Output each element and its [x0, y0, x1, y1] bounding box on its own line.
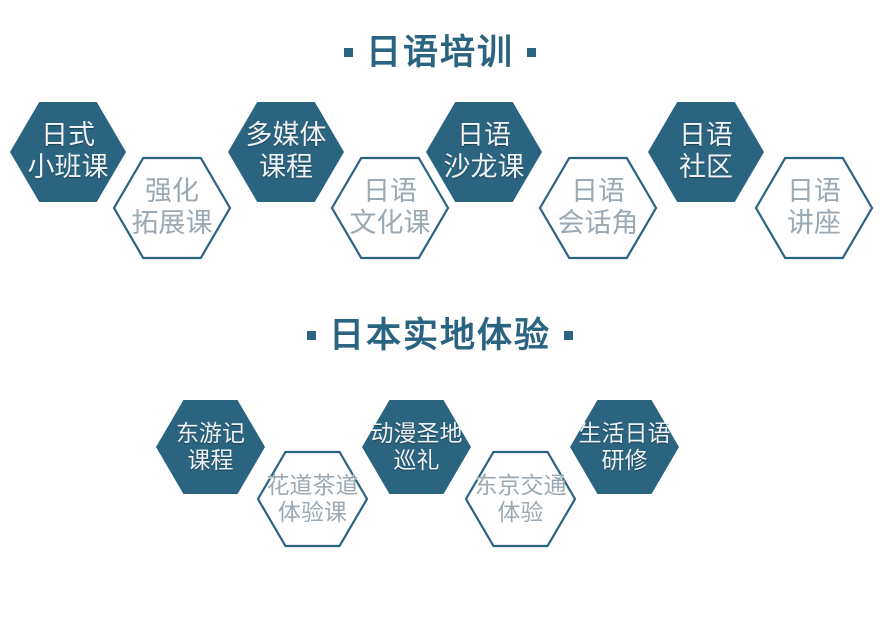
- hexagon-shape: [362, 400, 471, 494]
- section-title-text: 日本实地体验: [329, 318, 551, 353]
- hexagon-shape: [756, 158, 872, 258]
- hexagon-node-japanese-training-0[interactable]: 日式 小班课: [10, 102, 126, 202]
- hexagon-node-japanese-training-2[interactable]: 多媒体 课程: [228, 102, 344, 202]
- hexagon-shape: [570, 400, 679, 494]
- hexagon-shape: [228, 102, 344, 202]
- hexagon-node-japan-field-experience-4[interactable]: 生活日语 研修: [570, 400, 679, 494]
- hexagon-shape: [258, 452, 367, 546]
- section-title-text: 日语培训: [366, 35, 514, 70]
- hexagon-node-japanese-training-5[interactable]: 日语 会话角: [540, 158, 656, 258]
- hexagon-node-japanese-training-1[interactable]: 强化 拓展课: [114, 158, 230, 258]
- square-marker-icon: [527, 48, 536, 57]
- section-title-japan-field-experience: 日本实地体验: [0, 318, 880, 353]
- hexagon-shape: [156, 400, 265, 494]
- hexagon-shape: [648, 102, 764, 202]
- square-marker-icon: [344, 48, 353, 57]
- section-title-japanese-training: 日语培训: [0, 35, 880, 70]
- hexagon-node-japanese-training-6[interactable]: 日语 社区: [648, 102, 764, 202]
- hexagon-shape: [114, 158, 230, 258]
- square-marker-icon: [307, 331, 316, 340]
- hexagon-node-japanese-training-7[interactable]: 日语 讲座: [756, 158, 872, 258]
- hexagon-node-japan-field-experience-2[interactable]: 动漫圣地 巡礼: [362, 400, 471, 494]
- hexagon-shape: [540, 158, 656, 258]
- hexagon-node-japanese-training-4[interactable]: 日语 沙龙课: [426, 102, 542, 202]
- hexagon-node-japan-field-experience-1[interactable]: 花道茶道 体验课: [258, 452, 367, 546]
- hexagon-node-japan-field-experience-0[interactable]: 东游记 课程: [156, 400, 265, 494]
- hexagon-shape: [10, 102, 126, 202]
- infographic-canvas: 日语培训 日本实地体验 日式 小班课强化 拓展课多媒体 课程日语 文化课日语 沙…: [0, 0, 880, 621]
- hexagon-shape: [466, 452, 575, 546]
- square-marker-icon: [564, 331, 573, 340]
- hexagon-shape: [426, 102, 542, 202]
- hexagon-node-japan-field-experience-3[interactable]: 东京交通 体验: [466, 452, 575, 546]
